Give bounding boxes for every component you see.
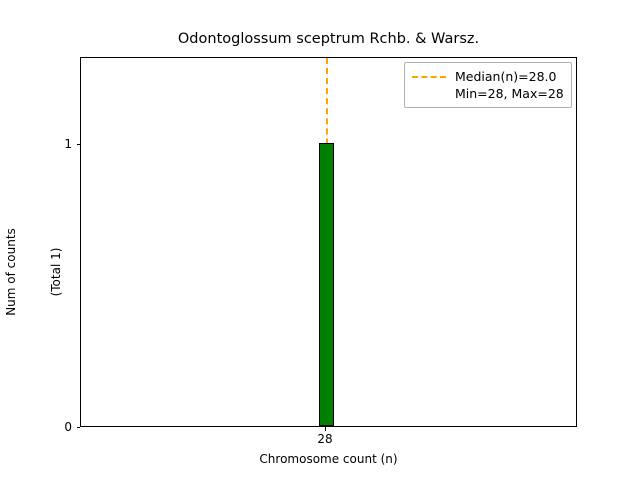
x-tick-mark-28 bbox=[325, 427, 326, 431]
legend-entry-median: Median(n)=28.0 bbox=[412, 68, 564, 85]
y-tick-label-0: 0 bbox=[12, 421, 72, 433]
x-tick-label-28: 28 bbox=[285, 433, 365, 445]
chart-figure: Odontoglossum sceptrum Rchb. & Warsz. 0 … bbox=[0, 0, 640, 480]
page-title: Odontoglossum sceptrum Rchb. & Warsz. bbox=[80, 30, 577, 48]
y-axis-label-line2: (Total 1) bbox=[49, 122, 64, 422]
legend-label-minmax: Min=28, Max=28 bbox=[455, 86, 564, 101]
median-dashed-line-icon bbox=[412, 76, 446, 78]
plot-area bbox=[80, 57, 577, 427]
legend-label-median: Median(n)=28.0 bbox=[455, 69, 556, 84]
bar-28 bbox=[319, 143, 334, 426]
y-tick-mark-0 bbox=[77, 427, 81, 428]
x-axis-label: Chromosome count (n) bbox=[80, 452, 577, 466]
legend-entry-minmax: Min=28, Max=28 bbox=[412, 85, 564, 102]
y-tick-mark-1 bbox=[77, 144, 81, 145]
legend: Median(n)=28.0 Min=28, Max=28 bbox=[404, 62, 572, 108]
y-axis-label-line1: Num of counts bbox=[4, 122, 19, 422]
